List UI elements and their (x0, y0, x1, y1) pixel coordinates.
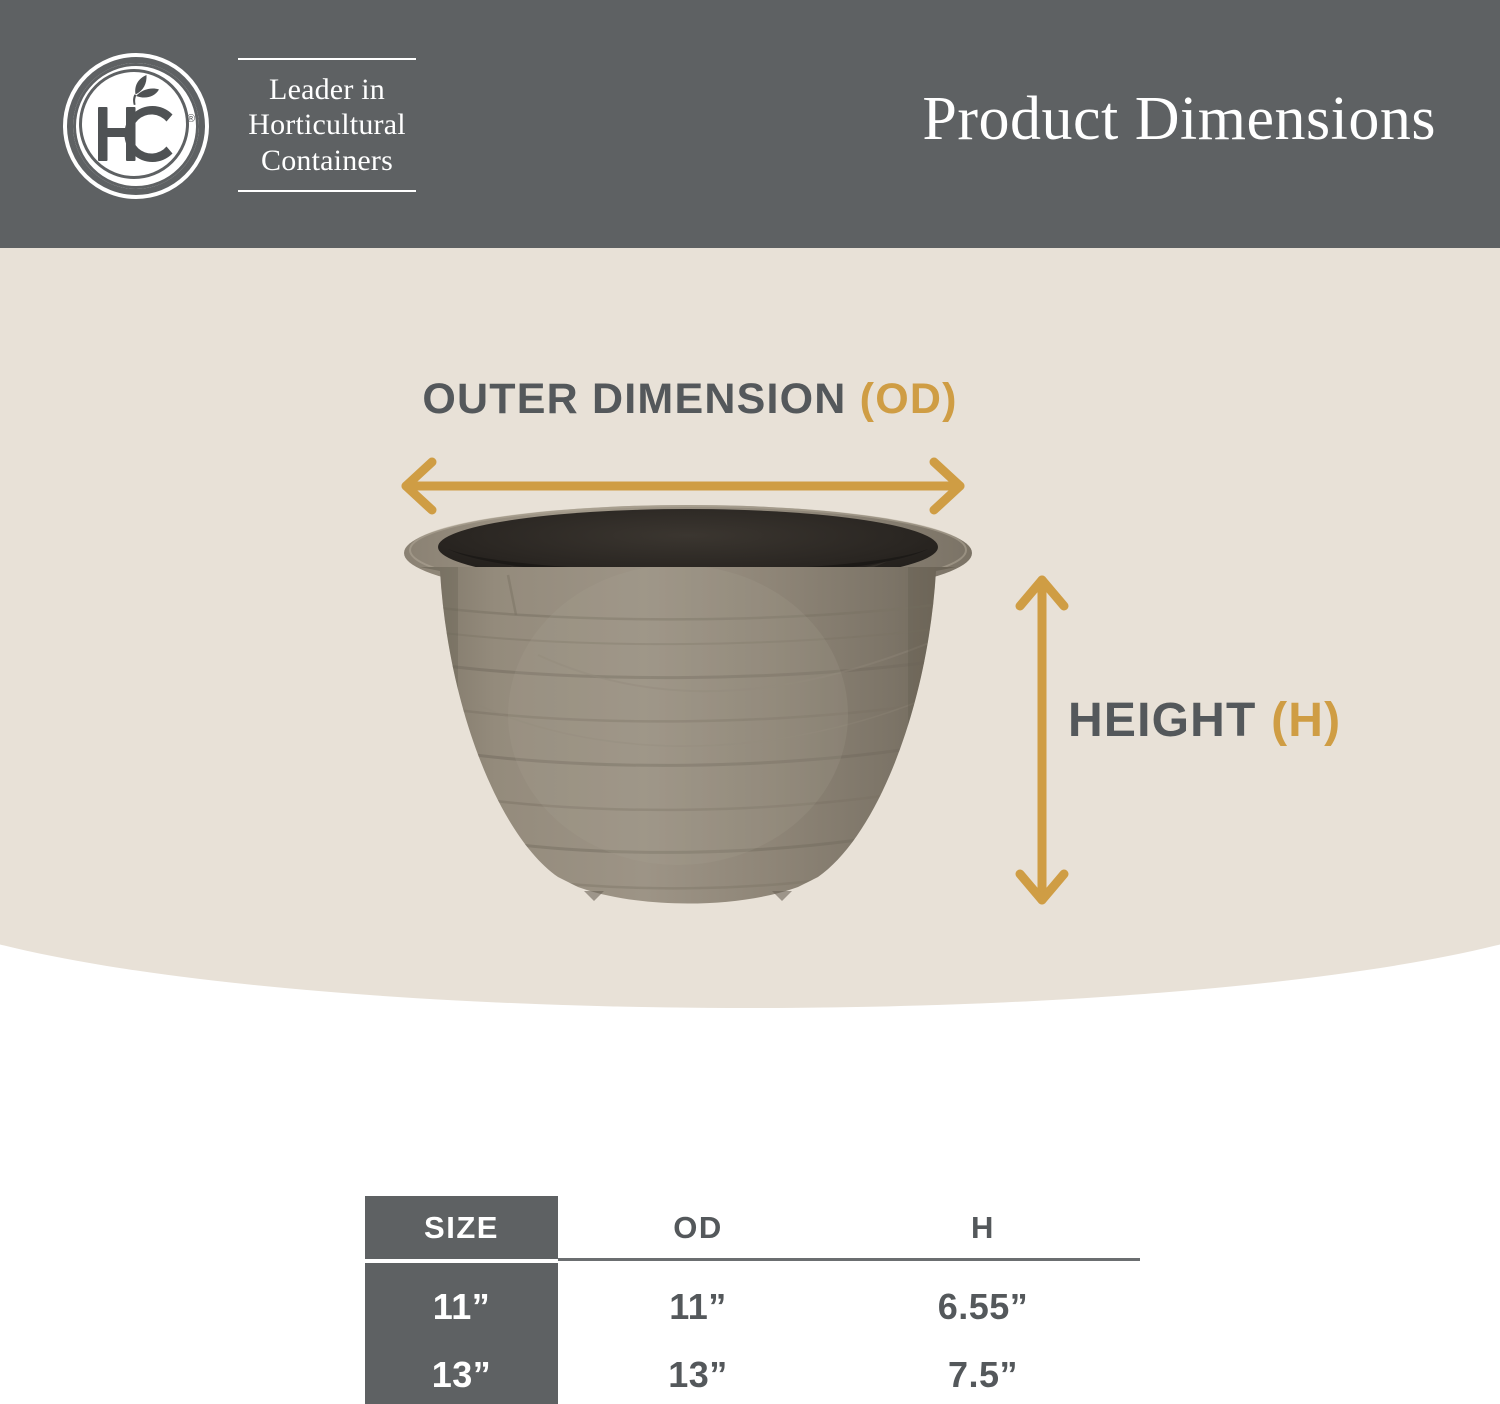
outer-dimension-label: OUTER DIMENSION (OD) (0, 375, 1500, 424)
tagline-rule-bottom (238, 190, 416, 192)
height-abbreviation: (H) (1271, 694, 1341, 747)
height-label-text: HEIGHT (1068, 694, 1257, 747)
tagline-line-2: Horticultural (232, 107, 422, 142)
column-header-size: SIZE (365, 1210, 558, 1246)
tagline-line-3: Containers (232, 143, 422, 178)
hc-monogram-icon: ® (62, 52, 206, 196)
header-bar: ® Leader in Horticultural Containers Pro… (0, 0, 1500, 248)
column-header-od: OD (608, 1210, 788, 1246)
table-row: 11” (608, 1286, 788, 1328)
table-row: 7.5” (893, 1354, 1073, 1396)
page-title: Product Dimensions (922, 84, 1436, 155)
tagline-rule-top (238, 58, 416, 60)
hc-logo-mark: ® (62, 52, 210, 200)
od-abbreviation: (OD) (860, 375, 958, 423)
table-row: 13” (608, 1354, 788, 1396)
height-label: HEIGHT (H) (1068, 693, 1341, 748)
column-header-h: H (893, 1210, 1073, 1246)
brand-logo: ® Leader in Horticultural Containers (62, 56, 462, 196)
pot-body (388, 565, 988, 920)
planter-pot-image (388, 505, 988, 920)
table-row: 13” (365, 1354, 558, 1396)
brand-tagline: Leader in Horticultural Containers (232, 54, 422, 198)
leaf-sprout-icon (133, 75, 159, 105)
od-label-text: OUTER DIMENSION (422, 375, 846, 423)
table-row: 6.55” (893, 1286, 1073, 1328)
vertical-double-arrow-icon (1012, 570, 1072, 910)
specifications-table: SIZE OD H 11” 11” 6.55” 13” 13” 7.5” (365, 1196, 1155, 1404)
table-header-divider (558, 1258, 1140, 1261)
svg-text:®: ® (187, 113, 195, 125)
tagline-line-1: Leader in (232, 72, 422, 107)
table-row: 11” (365, 1286, 558, 1328)
